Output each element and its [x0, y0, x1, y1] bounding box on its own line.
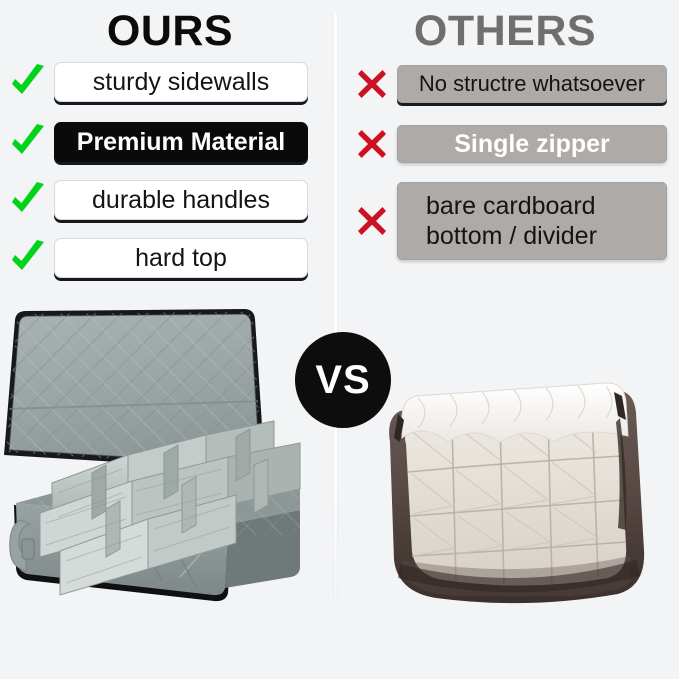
others-product-image — [378, 380, 648, 610]
ours-feature-row: hard top — [6, 236, 308, 280]
others-drawback-pill-1: No structre whatsoever — [397, 65, 667, 103]
vs-badge: VS — [295, 332, 391, 428]
red-x-icon — [355, 204, 389, 238]
ours-heading: OURS — [20, 6, 320, 56]
green-check-icon — [6, 236, 50, 280]
ours-feature-pill-4: hard top — [54, 238, 308, 278]
red-x-icon — [355, 67, 389, 101]
others-drawback-row: bare cardboard bottom / divider — [355, 182, 667, 260]
red-x-icon — [355, 127, 389, 161]
others-drawback-pill-3: bare cardboard bottom / divider — [397, 182, 667, 260]
others-drawback-row: Single zipper — [355, 125, 667, 163]
vs-badge-label: VS — [315, 358, 370, 403]
drawback-line-2: bottom / divider — [426, 222, 597, 250]
green-check-icon — [6, 60, 50, 104]
ours-feature-row: durable handles — [6, 178, 308, 222]
green-check-icon — [6, 120, 50, 164]
ours-feature-pill-2: Premium Material — [54, 122, 308, 162]
others-drawback-pill-3-text: bare cardboard bottom / divider — [398, 183, 597, 259]
ours-feature-pill-3: durable handles — [54, 180, 308, 220]
others-drawback-row: No structre whatsoever — [355, 65, 667, 103]
comparison-infographic: OURS OTHERS sturdy sidewalls Premium Mat… — [0, 0, 679, 679]
ours-feature-pill-1: sturdy sidewalls — [54, 62, 308, 102]
ours-product-image — [0, 305, 335, 605]
green-check-icon — [6, 178, 50, 222]
ours-feature-row: Premium Material — [6, 120, 308, 164]
others-heading: OTHERS — [350, 6, 660, 56]
others-drawback-pill-2: Single zipper — [397, 125, 667, 163]
ours-feature-row: sturdy sidewalls — [6, 60, 308, 104]
drawback-line-1: bare cardboard — [426, 192, 596, 220]
